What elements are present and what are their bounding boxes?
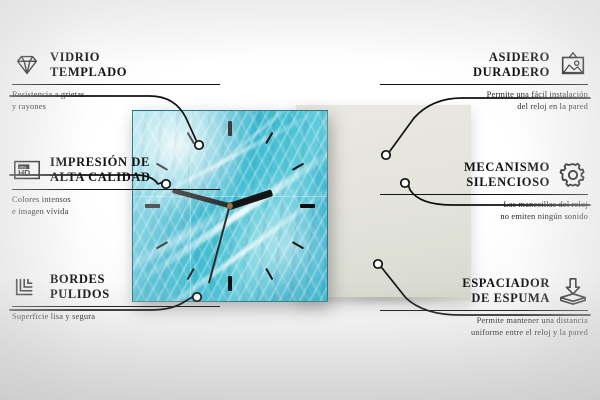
- feature-title-line2: PULIDOS: [50, 287, 110, 302]
- feature-impresion-alta-calidad: ultra HD IMPRESIÓN DE ALTA CALIDAD Color…: [12, 155, 220, 218]
- foam-spacer-arrow-icon: [558, 276, 588, 306]
- feature-title-line1: ESPACIADOR: [462, 276, 550, 291]
- feature-subtitle-line1: Permite una fácil instalación: [380, 89, 588, 101]
- picture-frame-hook-icon: [558, 50, 588, 80]
- feature-subtitle-line1: Permite mantener una distancia: [380, 315, 588, 327]
- svg-text:HD: HD: [18, 168, 30, 178]
- ultra-hd-icon: ultra HD: [12, 155, 42, 185]
- feature-subtitle-line2: del reloj en la pared: [380, 101, 588, 113]
- feature-espaciador-de-espuma: ESPACIADOR DE ESPUMA Permite mantener un…: [380, 276, 588, 339]
- feature-title-line1: MECANISMO: [464, 160, 550, 175]
- polished-edges-icon: [12, 272, 42, 302]
- feature-subtitle-line1: Las manecillas del reloj: [380, 199, 588, 211]
- divider: [380, 194, 588, 196]
- feature-subtitle-line2: y rayones: [12, 101, 220, 113]
- feature-title-line1: BORDES: [50, 272, 110, 287]
- feature-title-line2: DE ESPUMA: [462, 291, 550, 306]
- feature-subtitle-line1: Colores intensos: [12, 194, 220, 206]
- feature-subtitle-line1: Superficie lisa y segura: [12, 311, 220, 323]
- feature-title-line1: IMPRESIÓN DE: [50, 155, 151, 170]
- diamond-icon: [12, 50, 42, 80]
- divider: [12, 84, 220, 86]
- feature-vidrio-templado: VIDRIO TEMPLADO Resistencia a grietas y …: [12, 50, 220, 113]
- feature-title-line2: ALTA CALIDAD: [50, 170, 151, 185]
- gear-icon: [558, 160, 588, 190]
- feature-title-line2: SILENCIOSO: [464, 175, 550, 190]
- divider: [380, 310, 588, 312]
- feature-subtitle-line2: uniforme entre el reloj y la pared: [380, 327, 588, 339]
- feature-title-line2: DURADERO: [473, 65, 550, 80]
- feature-bordes-pulidos: BORDES PULIDOS Superficie lisa y segura: [12, 272, 220, 323]
- divider: [12, 189, 220, 191]
- feature-asidero-duradero: ASIDERO DURADERO Permite una fácil insta…: [380, 50, 588, 113]
- feature-title-line1: VIDRIO: [50, 50, 127, 65]
- divider: [380, 84, 588, 86]
- feature-mecanismo-silencioso: MECANISMO SILENCIOSO Las manecillas del …: [380, 160, 588, 223]
- feature-title-line1: ASIDERO: [473, 50, 550, 65]
- feature-subtitle-line2: e imagen vívida: [12, 206, 220, 218]
- feature-subtitle-line1: Resistencia a grietas: [12, 89, 220, 101]
- feature-title-line2: TEMPLADO: [50, 65, 127, 80]
- feature-subtitle-line2: no emiten ningún sonido: [380, 211, 588, 223]
- clock-hub: [227, 203, 233, 209]
- divider: [12, 306, 220, 308]
- infographic-canvas: VIDRIO TEMPLADO Resistencia a grietas y …: [0, 0, 600, 400]
